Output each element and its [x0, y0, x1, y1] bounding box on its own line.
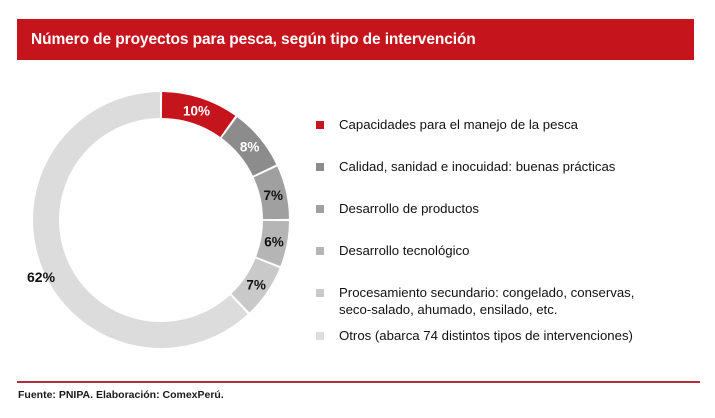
- chart-title-banner: Número de proyectos para pesca, según ti…: [17, 19, 694, 60]
- legend-swatch-icon: [316, 289, 324, 297]
- page-title: Número de proyectos para pesca, según ti…: [17, 31, 476, 49]
- legend-item[interactable]: Capacidades para el manejo de la pesca: [316, 116, 711, 133]
- legend-item-label: Desarrollo tecnológico: [339, 242, 469, 259]
- donut-slices: [33, 92, 289, 348]
- legend-swatch-icon: [316, 332, 324, 340]
- legend-item[interactable]: Desarrollo de productos: [316, 200, 711, 217]
- legend-item[interactable]: Otros (abarca 74 distintos tipos de inte…: [316, 327, 711, 344]
- chart-legend: Capacidades para el manejo de la pescaCa…: [316, 116, 711, 369]
- legend-item-label: Procesamiento secundario: congelado, con…: [339, 284, 634, 318]
- legend-item[interactable]: Desarrollo tecnológico: [316, 242, 711, 259]
- legend-item-label: Otros (abarca 74 distintos tipos de inte…: [339, 327, 633, 344]
- legend-item[interactable]: Procesamiento secundario: congelado, con…: [316, 284, 711, 318]
- source-note: Fuente: PNIPA. Elaboración: ComexPerú.: [18, 389, 224, 401]
- donut-slice-label: 7%: [263, 188, 283, 203]
- donut-slice-label: 6%: [264, 235, 284, 250]
- legend-swatch-icon: [316, 163, 324, 171]
- donut-slice-label: 10%: [183, 104, 210, 119]
- legend-item-label: Capacidades para el manejo de la pesca: [339, 116, 578, 133]
- legend-swatch-icon: [316, 121, 324, 129]
- legend-item-label: Calidad, sanidad e inocuidad: buenas prá…: [339, 158, 615, 175]
- legend-item-label: Desarrollo de productos: [339, 200, 479, 217]
- legend-item[interactable]: Calidad, sanidad e inocuidad: buenas prá…: [316, 158, 711, 175]
- donut-chart: 10%8%7%6%7% 62%: [0, 72, 310, 368]
- donut-slice-label: 8%: [240, 140, 260, 155]
- legend-swatch-icon: [316, 247, 324, 255]
- footer-divider: [17, 381, 700, 383]
- legend-swatch-icon: [316, 205, 324, 213]
- donut-slice-label: 7%: [246, 278, 266, 293]
- donut-chart-svg: 10%8%7%6%7%: [31, 90, 291, 350]
- donut-label-otros: 62%: [27, 269, 55, 285]
